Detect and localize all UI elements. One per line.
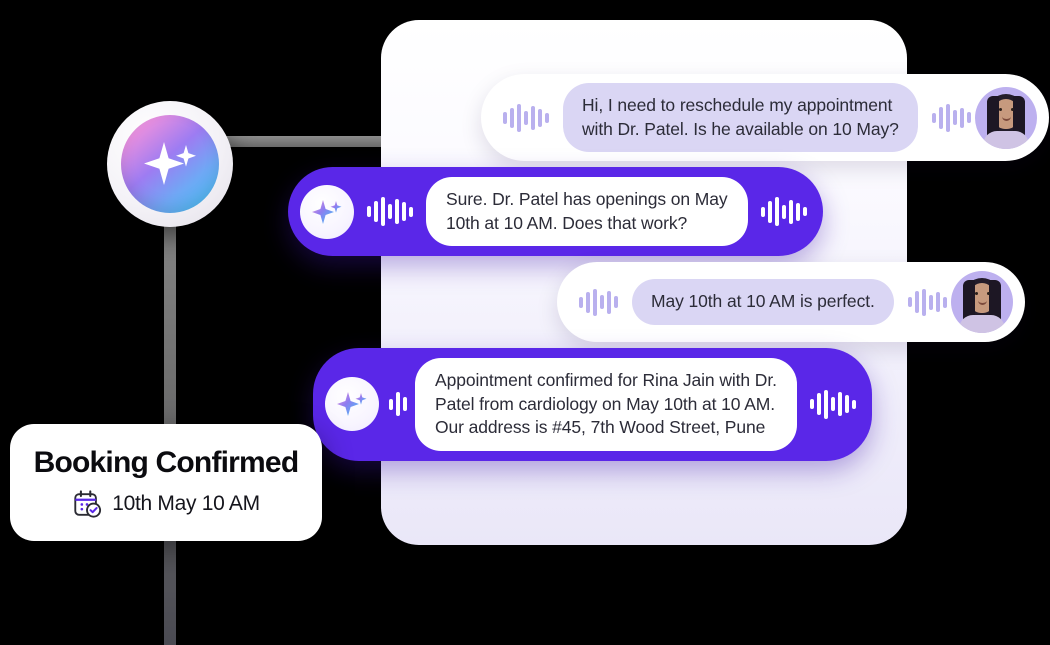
booking-confirmed-card[interactable]: Booking Confirmed 10th May 10 AM: [10, 424, 322, 541]
avatar: [951, 271, 1013, 333]
message-text: May 10th at 10 AM is perfect.: [632, 279, 894, 325]
avatar: [975, 87, 1037, 149]
message-text: Appointment confirmed for Rina Jain with…: [415, 358, 797, 451]
ai-node-gradient: [121, 115, 219, 213]
message-text: Hi, I need to reschedule my appointment …: [563, 83, 918, 152]
message-text: Sure. Dr. Patel has openings on May 10th…: [426, 177, 748, 246]
message-row-agent-2[interactable]: Sure. Dr. Patel has openings on May 10th…: [288, 167, 823, 256]
calendar-check-icon: [72, 489, 102, 519]
voice-waveform-icon: [389, 392, 407, 416]
connector-line-vertical: [164, 180, 176, 645]
voice-waveform-icon: [810, 390, 856, 419]
sparkle-icon: [134, 128, 206, 200]
booking-title: Booking Confirmed: [34, 446, 299, 480]
voice-waveform-icon: [367, 197, 413, 226]
voice-waveform-icon: [761, 197, 807, 226]
ai-agent-node[interactable]: [107, 101, 233, 227]
booking-date: 10th May 10 AM: [112, 492, 260, 516]
voice-waveform-icon: [908, 289, 947, 316]
message-row-user-1[interactable]: Hi, I need to reschedule my appointment …: [481, 74, 1049, 161]
sparkle-icon: [333, 385, 371, 423]
ai-agent-avatar: [300, 185, 354, 239]
voice-waveform-icon: [932, 104, 971, 132]
voice-waveform-icon: [579, 289, 618, 316]
booking-date-row: 10th May 10 AM: [72, 489, 260, 519]
message-row-user-3[interactable]: May 10th at 10 AM is perfect.: [557, 262, 1025, 342]
sparkle-icon: [308, 193, 346, 231]
scene-root: Hi, I need to reschedule my appointment …: [0, 0, 1050, 645]
voice-waveform-icon: [503, 104, 549, 132]
message-row-agent-4[interactable]: Appointment confirmed for Rina Jain with…: [313, 348, 872, 461]
ai-agent-avatar: [325, 377, 379, 431]
